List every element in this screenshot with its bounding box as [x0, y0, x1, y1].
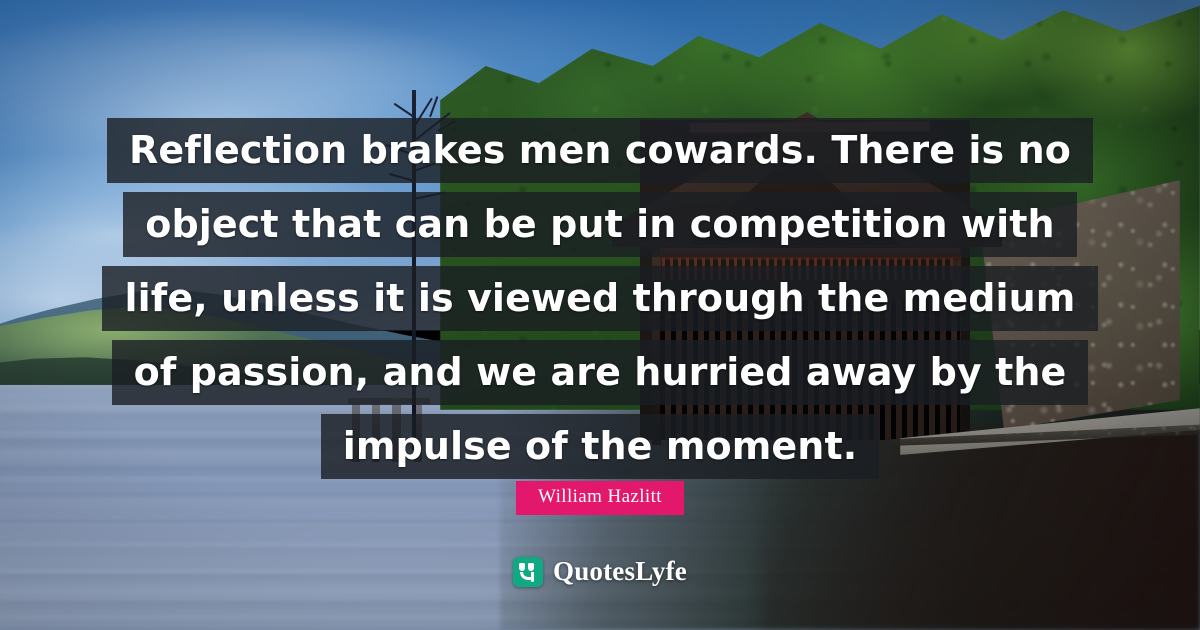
quote-smiley-icon	[513, 557, 543, 587]
quote-line: Reflection brakes men cowards. There is …	[107, 118, 1093, 183]
quote-line: object that can be put in competition wi…	[123, 192, 1076, 257]
quote-poster: Reflection brakes men cowards. There is …	[0, 0, 1200, 630]
quote-line: impulse of the moment.	[321, 414, 880, 479]
quote-line: life, unless it is viewed through the me…	[102, 266, 1097, 331]
brand-logo[interactable]: QuotesLyfe	[0, 556, 1200, 587]
author-name-badge[interactable]: William Hazlitt	[516, 481, 684, 515]
quote-text-block: Reflection brakes men cowards. There is …	[0, 118, 1200, 488]
quote-line: of passion, and we are hurried away by t…	[112, 340, 1089, 405]
brand-name: QuotesLyfe	[553, 556, 687, 587]
author-badge-container: William Hazlitt	[0, 481, 1200, 515]
